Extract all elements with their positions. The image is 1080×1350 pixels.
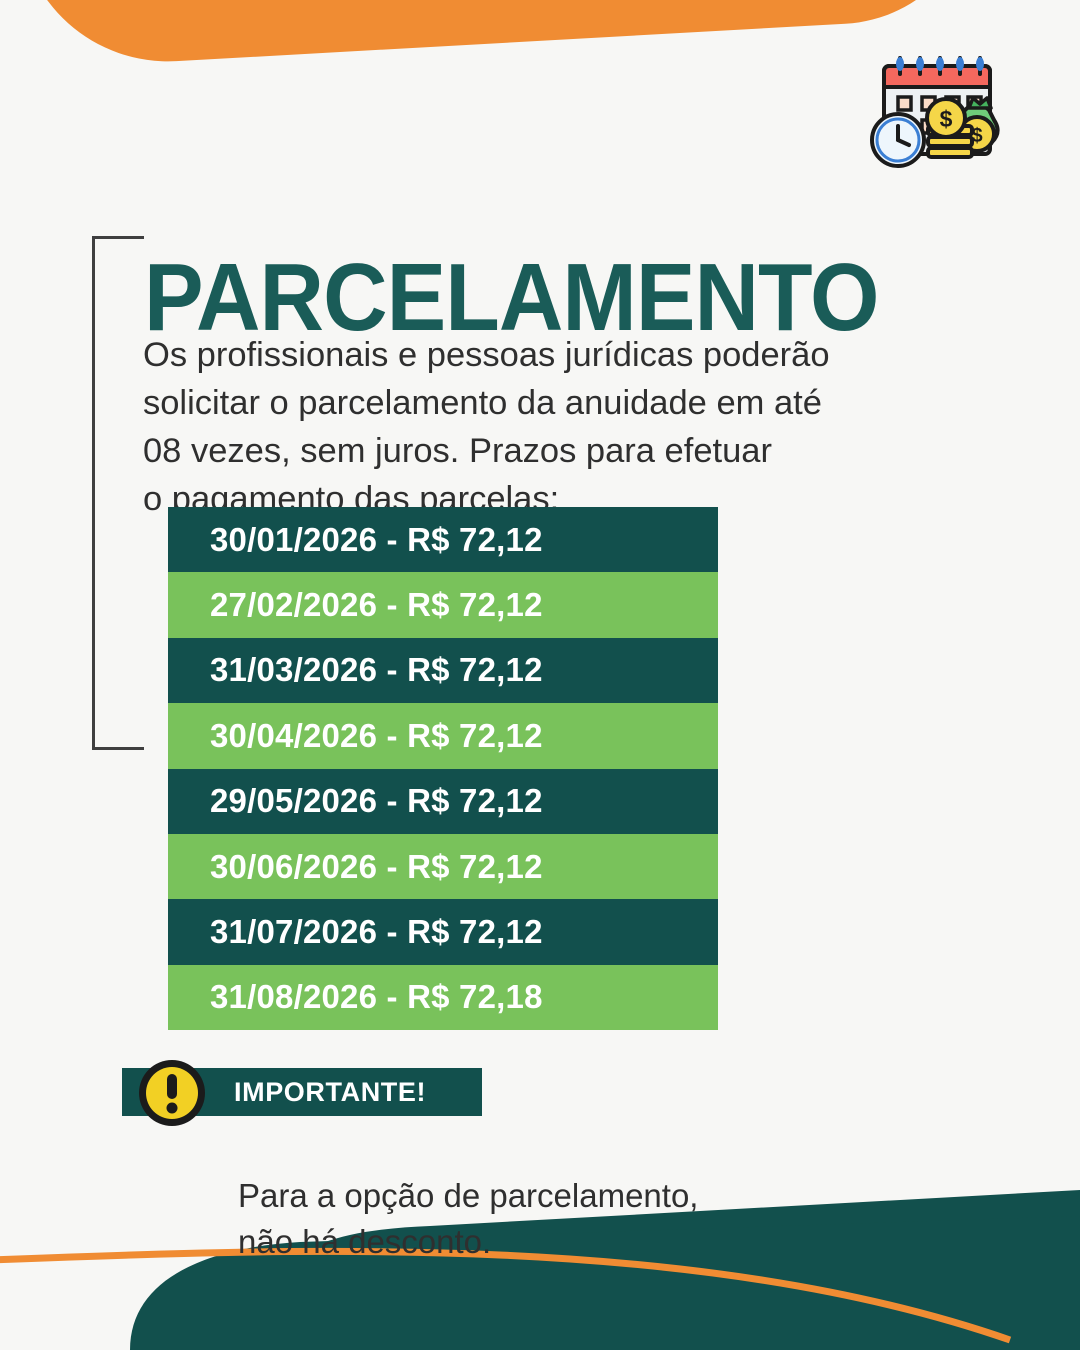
table-row: 30/06/2026 - R$ 72,12 [168,834,718,899]
poster-canvas: $ $ PARCELAMENTO Os profissionais e pess… [0,0,1080,1350]
bracket-bottom-arm [94,747,144,750]
important-badge-label: IMPORTANTE! [234,1068,426,1116]
table-row: 29/05/2026 - R$ 72,12 [168,769,718,834]
table-row: 30/01/2026 - R$ 72,12 [168,507,718,572]
table-row: 31/03/2026 - R$ 72,12 [168,638,718,703]
table-row: 31/07/2026 - R$ 72,12 [168,899,718,964]
installments-table: 30/01/2026 - R$ 72,12 27/02/2026 - R$ 72… [168,507,718,1030]
svg-text:$: $ [940,106,953,132]
table-row: 31/08/2026 - R$ 72,18 [168,965,718,1030]
top-orange-shape [10,0,985,70]
table-row: 27/02/2026 - R$ 72,12 [168,572,718,637]
calendar-coins-clock-icon: $ $ [862,52,1014,182]
bracket-top-arm [94,236,144,239]
intro-paragraph: Os profissionais e pessoas jurídicas pod… [143,331,953,523]
bracket-vertical [92,236,95,750]
exclamation-circle-icon [136,1057,208,1129]
table-row: 30/04/2026 - R$ 72,12 [168,703,718,768]
left-bracket [92,236,144,750]
footer-note: Para a opção de parcelamento, não há des… [238,1173,878,1265]
